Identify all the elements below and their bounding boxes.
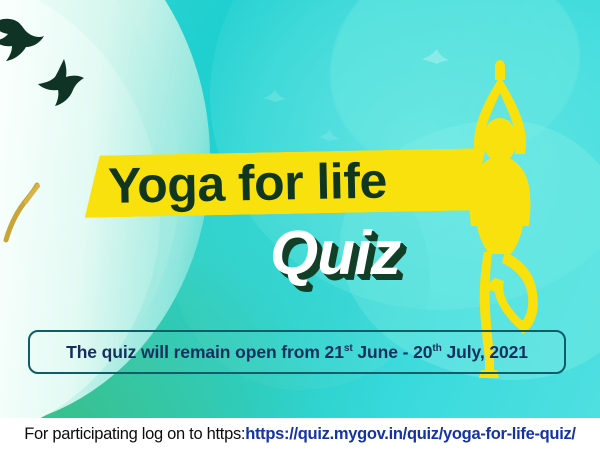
- date-prefix: The quiz will remain open from 21: [66, 342, 344, 362]
- date-banner-text: The quiz will remain open from 21st June…: [66, 342, 528, 363]
- poster-title-line2: Quiz: [270, 218, 400, 289]
- faint-bird-icon-3: [166, 132, 188, 146]
- poster-artwork: Yoga for life Quiz The quiz will remain …: [0, 0, 600, 418]
- date-sup-th: th: [432, 343, 441, 354]
- footer-prefix-text: For participating log on to https:: [24, 425, 245, 443]
- date-suffix: July, 2021: [442, 342, 528, 362]
- poster-title-line1: Yoga for life: [107, 142, 508, 222]
- dove-icon-2: [34, 55, 94, 111]
- footer-quiz-url[interactable]: https://quiz.mygov.in/quiz/yoga-for-life…: [245, 425, 576, 443]
- footer-line: For participating log on to https:https:…: [24, 425, 575, 444]
- faint-bird-icon-4: [318, 128, 342, 143]
- gold-stalk-icon: [2, 182, 42, 244]
- footer-bar: For participating log on to https:https:…: [0, 418, 600, 450]
- date-middle: June - 20: [353, 342, 433, 362]
- faint-bird-icon-2: [262, 88, 288, 104]
- date-banner: The quiz will remain open from 21st June…: [28, 330, 566, 374]
- date-sup-st: st: [344, 343, 353, 354]
- yoga-quiz-poster: Yoga for life Quiz The quiz will remain …: [0, 0, 600, 450]
